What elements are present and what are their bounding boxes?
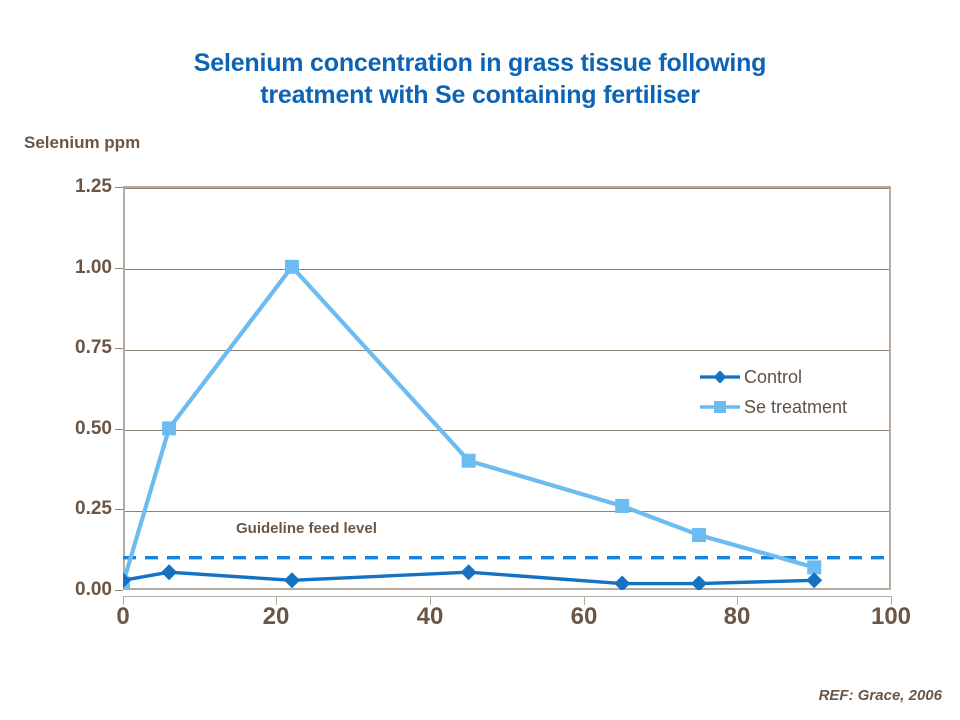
x-axis-line [123,596,891,597]
x-tick-label-0: 0 [78,603,168,631]
legend-label-se-treatment: Se treatment [744,398,847,416]
legend-marker-square-icon [700,397,740,417]
legend-item-se-treatment[interactable]: Se treatment [700,392,847,422]
y-tick-mark-1-25 [115,187,123,188]
y-tick-mark-0-50 [115,429,123,430]
x-tick-label-60: 60 [539,603,629,631]
y-tick-label-0-50: 0.50 [2,418,112,440]
guideline-feed-level-label: Guideline feed level [236,520,377,537]
y-tick-label-1-00: 1.00 [2,257,112,279]
chart-title: Selenium concentration in grass tissue f… [70,48,890,111]
chart-title-line-2: treatment with Se containing fertiliser [70,80,890,112]
x-tick-label-20: 20 [231,603,321,631]
reference-note: REF: Grace, 2006 [819,687,942,704]
y-axis-title: Selenium ppm [24,133,140,153]
legend-item-control[interactable]: Control [700,362,847,392]
chart-title-line-1: Selenium concentration in grass tissue f… [70,48,890,80]
gridline-1-00 [125,269,889,270]
y-tick-label-0-75: 0.75 [2,337,112,359]
y-tick-label-0-25: 0.25 [2,498,112,520]
legend-marker-diamond-icon [700,367,740,387]
chart-legend: Control Se treatment [700,362,847,422]
y-tick-mark-1-00 [115,268,123,269]
y-tick-label-1-25: 1.25 [2,176,112,198]
y-tick-label-0-00: 0.00 [2,579,112,601]
gridline-1-25 [125,188,889,189]
x-tick-label-100: 100 [846,603,936,631]
selenium-line-chart: Selenium concentration in grass tissue f… [0,0,960,720]
gridline-0-75 [125,350,889,351]
y-tick-mark-0-75 [115,348,123,349]
y-tick-mark-0-00 [115,590,123,591]
legend-label-control: Control [744,368,802,386]
gridline-0-50 [125,430,889,431]
y-tick-mark-0-25 [115,509,123,510]
x-tick-label-80: 80 [692,603,782,631]
x-tick-label-40: 40 [385,603,475,631]
gridline-0-25 [125,511,889,512]
